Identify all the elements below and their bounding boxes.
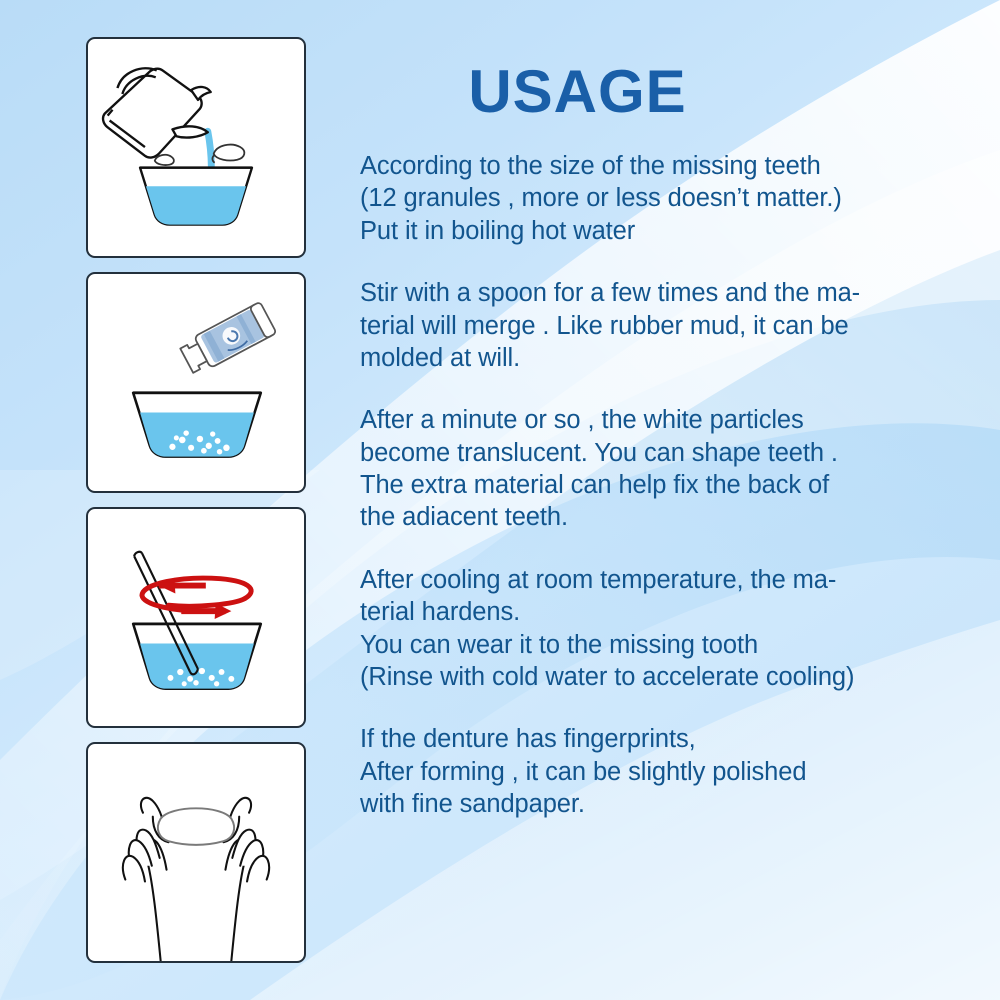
bottle-granules-illustration — [88, 274, 304, 491]
bowl-water — [140, 412, 254, 456]
granule-bottle-icon — [178, 302, 276, 377]
kettle-pouring-illustration — [88, 39, 304, 256]
usage-instruction-poster: USAGE According to the size of the missi… — [0, 0, 1000, 1000]
steam-puff-icon — [155, 145, 245, 165]
bowl-icon — [133, 624, 261, 689]
instruction-paragraph-4: After cooling at room temperature, the m… — [360, 564, 960, 694]
panel-kettle-pouring — [86, 37, 306, 258]
page-title: USAGE — [360, 62, 960, 122]
instruction-paragraph-1: According to the size of the missing tee… — [360, 150, 960, 247]
red-rotation-arrows-icon — [142, 578, 251, 619]
bowl-water — [146, 186, 246, 224]
kettle-icon — [103, 68, 211, 157]
instruction-paragraph-5: If the denture has fingerprints, After f… — [360, 723, 960, 820]
hands-molding-illustration — [88, 744, 304, 961]
bowl-icon — [133, 393, 261, 457]
bowl-icon — [140, 168, 252, 225]
illustration-panel-column — [86, 37, 306, 963]
denture-blank-icon — [158, 808, 234, 845]
instruction-paragraph-2: Stir with a spoon for a few times and th… — [360, 277, 960, 374]
panel-stirring — [86, 507, 306, 728]
usage-text-column: USAGE According to the size of the missi… — [360, 62, 960, 820]
stirring-illustration — [88, 509, 304, 726]
panel-bottle-granules — [86, 272, 306, 493]
panel-hands-molding — [86, 742, 306, 963]
instruction-paragraph-3: After a minute or so , the white particl… — [360, 404, 960, 534]
